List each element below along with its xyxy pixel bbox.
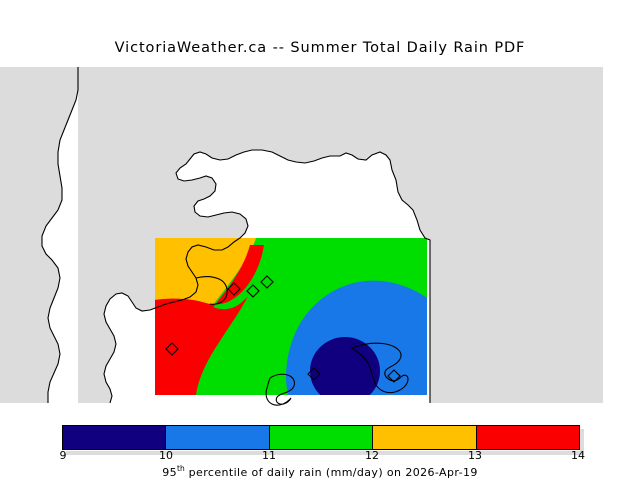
colorbar-caption: 95th percentile of daily rain (mm/day) o…: [0, 464, 640, 479]
colorbar-tick-0: 9: [60, 449, 67, 462]
colorbar-tick-2: 11: [262, 449, 276, 462]
caption-prefix: 95: [162, 466, 177, 479]
colorbar-cell-12-13[interactable]: [373, 426, 476, 449]
map-plot-area: [0, 60, 640, 410]
colorbar-tick-labels: 9 10 11 12 13 14: [0, 449, 640, 465]
colorbar-cell-11-12[interactable]: [270, 426, 373, 449]
contour-field: [155, 238, 427, 405]
colorbar-bands[interactable]: [62, 425, 580, 450]
colorbar-tick-1: 10: [159, 449, 173, 462]
contour-band-9-10: [310, 337, 380, 405]
weather-map-page: VictoriaWeather.ca -- Summer Total Daily…: [0, 0, 640, 480]
colorbar-cell-9-10[interactable]: [63, 426, 166, 449]
colorbar-tick-3: 12: [365, 449, 379, 462]
colorbar-legend: 9 10 11 12 13 14 95th percentile of dail…: [0, 420, 640, 480]
colorbar-cell-10-11[interactable]: [166, 426, 269, 449]
colorbar-tick-4: 13: [468, 449, 482, 462]
page-title: VictoriaWeather.ca -- Summer Total Daily…: [0, 40, 640, 56]
colorbar-tick-5: 14: [571, 449, 585, 462]
caption-superscript: th: [177, 464, 185, 473]
caption-suffix: percentile of daily rain (mm/day) on 202…: [185, 466, 478, 479]
map-graphic: [0, 60, 640, 410]
colorbar-cell-13-14[interactable]: [477, 426, 579, 449]
